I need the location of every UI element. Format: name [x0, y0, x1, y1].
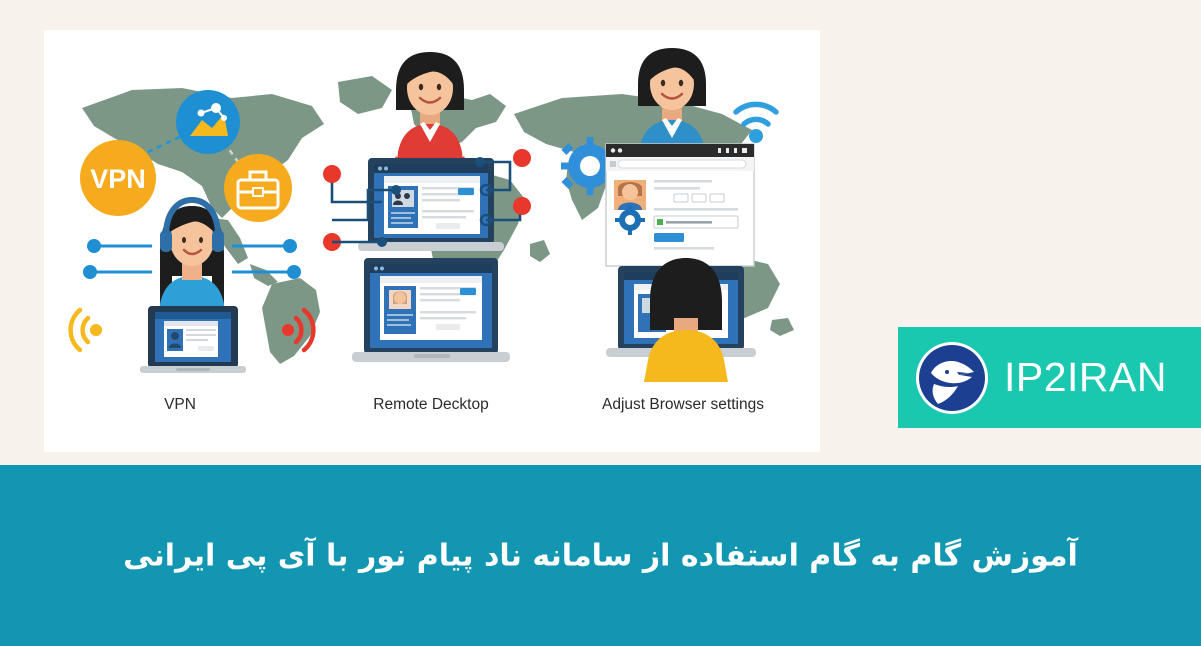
browser-settings-panel: [556, 30, 810, 390]
vpn-panel: VPN: [56, 40, 326, 392]
man-in-yellow-shirt: [644, 258, 728, 382]
brand-logo[interactable]: IP2IRAN: [898, 327, 1201, 428]
remote-desktop-panel: [310, 30, 550, 390]
caption-vpn: VPN: [44, 396, 316, 414]
headline-text: آموزش گام به گام استفاده از سامانه ناد پ…: [0, 533, 1201, 578]
eagle-head-svg: [916, 342, 988, 414]
vpn-text-badge: VPN: [80, 140, 156, 216]
page-root: VPN: [0, 0, 1201, 646]
wifi-icon: [736, 104, 776, 143]
briefcase-icon: [224, 154, 292, 222]
wifi-signal-right: [282, 310, 313, 350]
browser-window: [606, 144, 754, 266]
eagle-head-icon: [916, 342, 988, 414]
headline-banner: آموزش گام به گام استفاده از سامانه ناد پ…: [0, 465, 1201, 646]
laptop-lower: [352, 258, 510, 362]
network-map-icon: [176, 90, 240, 154]
svg-text:VPN: VPN: [90, 164, 146, 194]
laptop-upper: [358, 158, 504, 251]
illustration-card: VPN: [44, 30, 820, 452]
panel-captions: VPN Remote Decktop Adjust Browser settin…: [44, 396, 820, 430]
laptop-vpn: [140, 306, 246, 373]
caption-remote-desktop: Remote Decktop: [316, 396, 546, 414]
wifi-signal-left: [71, 310, 102, 350]
brand-name: IP2IRAN: [1004, 357, 1167, 398]
caption-browser-settings: Adjust Browser settings: [546, 396, 820, 414]
